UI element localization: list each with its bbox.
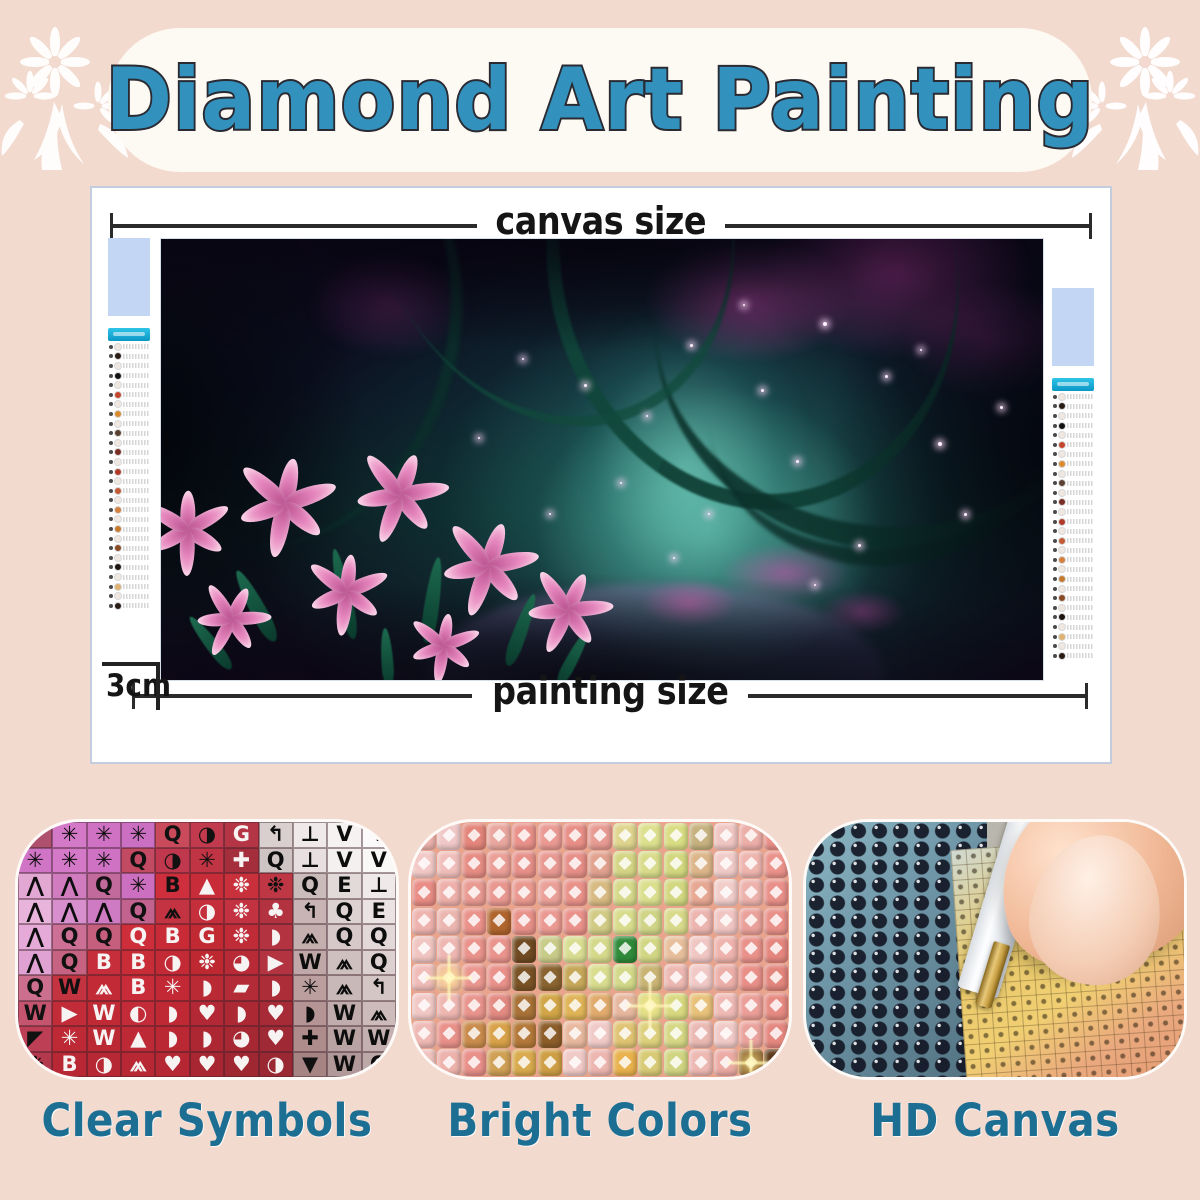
drill-legend-code [123,383,149,388]
drill-legend-dot [109,565,113,569]
drill-legend-dot [1053,395,1057,399]
drill-legend-code [1067,394,1093,399]
drill-legend-bead [1058,460,1066,468]
canvas-showcase: canvas size 3cm painting size [90,186,1112,764]
drill-cell [664,879,688,906]
drill-legend-row [108,496,150,506]
drill-legend-row [1052,574,1094,584]
symbol-cell: ◤ [18,822,52,848]
drill-legend-row [1052,392,1094,402]
symbol-cell: ✳ [121,873,155,899]
drill-legend-bead [114,583,122,591]
drill-legend-bead [1058,575,1066,583]
symbol-cell: B [121,950,155,976]
drill-legend-dot [109,364,113,368]
drill-legend-row [108,409,150,419]
drill-legend-dot [109,402,113,406]
symbol-cell: Q [362,924,396,950]
symbol-cell: ◗ [224,1001,258,1027]
drill-legend-bead [114,400,122,408]
drill-legend-row [1052,469,1094,479]
drill-legend-dot [109,556,113,560]
symbol-cell: ♥ [190,1052,224,1078]
drill-cell [437,1021,461,1048]
symbol-cell: ◤ [18,1026,52,1052]
feature-card-clear-symbols[interactable]: ◤✳✳✳Q◑G↰⊥VI✳✳✳Q◑✳✚Q⊥VV⋀⋀Q✳B▲❉❉QE⊥⋀⋀⋀Q⩕◑❉… [18,822,396,1077]
drill-cell [512,1049,536,1076]
drill-legend-row [108,563,150,573]
drill-legend-bead [1058,594,1066,602]
symbol-cell: ⩕ [327,975,361,1001]
drill-legend-dot [1053,491,1057,495]
drill-legend-row [108,419,150,429]
drill-legend-code [123,546,149,551]
drill-legend-code [1067,452,1093,457]
drill-cell [764,879,788,906]
drill-legend-row [108,400,150,410]
drill-cell [487,936,511,963]
drill-cell [538,823,562,850]
drill-legend-bead [1058,508,1066,516]
drill-legend-bead [114,496,122,504]
symbol-cell: W [362,1026,396,1052]
symbol-cell: ▲ [190,873,224,899]
drill-legend-row [1052,498,1094,508]
symbol-cell: B [155,873,189,899]
drill-legend-row [1052,526,1094,536]
drill-cell [689,823,713,850]
symbol-cell: Q [362,1052,396,1078]
symbol-cell: ✳ [52,848,86,874]
drill-legend-dot [1053,404,1057,408]
drill-cell [487,1049,511,1076]
drill-legend-bead [1058,527,1066,535]
symbol-cell: ↰ [362,975,396,1001]
symbol-cell: ❉ [18,1052,52,1078]
symbol-cell: Q [121,899,155,925]
symbol-cell: Q [259,848,293,874]
drill-legend-row [108,380,150,390]
drill-legend-dot [109,422,113,426]
drill-legend-row [108,352,150,362]
symbol-cell: ♥ [190,1001,224,1027]
drill-legend-code [1067,538,1093,543]
drill-legend-code [1067,596,1093,601]
drill-legend-dot [109,460,113,464]
drill-legend-bead [114,439,122,447]
drill-legend-row [1052,440,1094,450]
drill-legend-dot [109,546,113,550]
symbol-cell: B [155,924,189,950]
drill-legend-code [123,517,149,522]
drill-legend-bead [114,592,122,600]
symbol-cell: ♥ [259,1001,293,1027]
drill-legend-bead [114,525,122,533]
drill-legend-bead [1058,556,1066,564]
symbol-cell: ◕ [224,950,258,976]
symbol-cell: ✳ [52,822,86,848]
drill-cell [664,908,688,935]
symbol-cell: ◑ [87,1052,121,1078]
symbol-cell: Q [52,950,86,976]
drill-legend-row [108,457,150,467]
drill-legend-bead [1058,565,1066,573]
drill-legend-dot [109,450,113,454]
drill-cell [487,993,511,1020]
drill-legend-row [1052,603,1094,613]
drill-legend-code [123,431,149,436]
drill-legend-code [123,411,149,416]
symbol-cell: ❉ [224,899,258,925]
drill-legend-code [1067,567,1093,572]
drill-legend-code [1067,625,1093,630]
symbol-cell: ⋀ [18,924,52,950]
symbol-cell: ◗ [293,1001,327,1027]
drill-cell [588,936,612,963]
symbol-cell: I [362,822,396,848]
drill-cell [638,879,662,906]
drill-cell [588,851,612,878]
symbol-cell: Q [155,822,189,848]
drill-legend-bead [1058,412,1066,420]
drill-cell [412,908,436,935]
painting-size-measure: painting size [132,674,1088,718]
drill-cell [689,936,713,963]
drill-legend-dot [1053,587,1057,591]
drill-legend-bead [114,372,122,380]
drill-cell [613,936,637,963]
drill-legend-dot [109,537,113,541]
drill-cell [664,936,688,963]
symbol-cell: ◕ [224,1026,258,1052]
drill-cell [512,993,536,1020]
drill-cell [664,851,688,878]
drill-cell [512,823,536,850]
drill-legend-code [123,459,149,464]
drill-cell [563,823,587,850]
drill-cell [739,993,763,1020]
drill-legend-bead [114,362,122,370]
drill-legend-code [1067,644,1093,649]
drill-legend-dot [1053,635,1057,639]
symbol-cell: ↰ [293,899,327,925]
drill-cell [638,936,662,963]
drill-legend-dot [1053,606,1057,610]
drill-legend-bead [1058,441,1066,449]
symbol-cell: ▰ [224,975,258,1001]
drill-cell [613,823,637,850]
feature-caption-bright-colors: Bright Colors [430,1094,770,1147]
symbol-cell: Q [327,899,361,925]
drill-legend-bead [114,410,122,418]
drill-cell [739,964,763,991]
drill-cell [739,823,763,850]
drill-legend-bead [114,458,122,466]
drill-cell [588,993,612,1020]
drill-legend-row [108,601,150,611]
drill-cell [638,908,662,935]
painting-rule-left [135,694,472,698]
drill-cell [563,851,587,878]
symbol-cell: ▶ [52,1001,86,1027]
drill-legend-dot [1053,577,1057,581]
drill-legend-row [1052,459,1094,469]
drill-cell [563,1021,587,1048]
drill-legend-row [108,582,150,592]
symbol-cell: ↰ [259,822,293,848]
drill-legend-bead [114,487,122,495]
symbol-cell: W [327,1001,361,1027]
drill-legend-dot [1053,548,1057,552]
drill-legend-bead [1058,498,1066,506]
painting-cap-right [1085,683,1088,709]
drill-legend-bead [1058,633,1066,641]
drill-legend-code [1067,529,1093,534]
drill-legend-code [123,565,149,570]
drill-cell [462,879,486,906]
drill-cell [638,823,662,850]
drill-cell [538,851,562,878]
drill-legend-row [1052,546,1094,556]
drill-legend-row [108,572,150,582]
drill-cell [563,1049,587,1076]
painting-rule-right [748,694,1085,698]
symbol-cell: ♥ [224,1052,258,1078]
drill-cell [739,851,763,878]
artwork-firefly [938,442,942,446]
drill-cell [638,993,662,1020]
drill-cell [512,1021,536,1048]
drill-cell [739,908,763,935]
drill-legend-code [123,344,149,349]
symbol-cell: ◐ [121,1001,155,1027]
symbol-cell: ♣ [259,899,293,925]
drill-legend-code [123,354,149,359]
drill-cell [588,1021,612,1048]
drill-legend-bead [114,381,122,389]
drill-legend-dot [109,412,113,416]
drill-legend-dot [109,441,113,445]
drill-legend-row [1052,641,1094,651]
drill-legend-row [1052,411,1094,421]
drill-cell [739,936,763,963]
symbol-cell: ⩕ [327,950,361,976]
drill-legend-row [108,390,150,400]
drill-legend-code [1067,404,1093,409]
drill-legend-bead [114,352,122,360]
drill-legend-bead [1058,585,1066,593]
drill-cell [689,964,713,991]
drill-legend-dot [109,527,113,531]
drill-legend-bead [1058,623,1066,631]
drill-cell [538,964,562,991]
drill-legend-dot [109,345,113,349]
artwork-firefly [549,513,551,515]
drill-legend-dot [1053,433,1057,437]
drill-legend-header-right [1052,378,1094,391]
drill-legend-code [123,488,149,493]
drill-legend-code [123,575,149,580]
symbol-cell: ◑ [190,822,224,848]
drill-legend-row [108,361,150,371]
drill-legend-bead [1058,402,1066,410]
drill-legend-row [1052,430,1094,440]
drill-cell [588,1049,612,1076]
symbol-cell: ⋀ [18,899,52,925]
drill-legend-dot [1053,414,1057,418]
symbol-cell: ⊥ [362,873,396,899]
symbol-cell: Q [52,924,86,950]
symbol-cell: W [327,1052,361,1078]
drill-cell [538,908,562,935]
drill-legend-bead [1058,613,1066,621]
feature-card-bright-colors[interactable] [411,822,789,1077]
drill-legend-bead [114,535,122,543]
drill-legend-row [108,524,150,534]
symbol-cell: Q [121,924,155,950]
drill-cell [689,879,713,906]
drill-legend-code [1067,442,1093,447]
drill-legend-row [108,553,150,563]
symbol-cell: W [52,975,86,1001]
drill-legend-bead [1058,422,1066,430]
feature-card-hd-canvas[interactable] [806,822,1184,1077]
drill-legend-code [123,450,149,455]
symbol-grid: ◤✳✳✳Q◑G↰⊥VI✳✳✳Q◑✳✚Q⊥VV⋀⋀Q✳B▲❉❉QE⊥⋀⋀⋀Q⩕◑❉… [18,822,396,1077]
drill-legend-row [108,543,150,553]
drill-legend-rows-right [1052,391,1094,662]
drill-legend-code [123,536,149,541]
drill-legend-bead [114,420,122,428]
symbol-cell: ⊥ [293,822,327,848]
drill-legend-row [1052,593,1094,603]
symbol-cell: ⩕ [87,975,121,1001]
drill-cell [563,936,587,963]
drill-legend-bead [114,563,122,571]
drill-legend-code [123,421,149,426]
drill-cell [437,879,461,906]
drill-legend-row [108,476,150,486]
drill-legend-dot [1053,654,1057,658]
symbol-cell: B [121,975,155,1001]
drill-legend-dot [109,479,113,483]
drill-cell [538,1021,562,1048]
symbol-cell: Q [121,848,155,874]
symbol-cell: ❉ [259,873,293,899]
drill-legend-bead [114,544,122,552]
drill-cell [538,879,562,906]
drill-legend-row [1052,622,1094,632]
drill-legend-dot [109,498,113,502]
drill-cell [538,936,562,963]
symbol-cell: ▲ [121,1026,155,1052]
artwork-image [160,238,1044,681]
drill-cell [462,823,486,850]
drill-legend-bead [1058,450,1066,458]
symbol-cell: Q [293,873,327,899]
drill-legend-row [1052,421,1094,431]
drill-legend-row [108,505,150,515]
drill-legend-bead [1058,518,1066,526]
symbol-cell: ✚ [224,848,258,874]
symbol-cell: Q [18,975,52,1001]
drill-cell [412,851,436,878]
drill-legend-row [1052,565,1094,575]
drill-legend-bead [1058,431,1066,439]
hd-canvas-photo [806,822,1184,1077]
drill-cell [487,823,511,850]
margin-measure-tick [156,662,160,710]
drill-cell [689,1049,713,1076]
drill-legend-code [1067,461,1093,466]
symbol-cell: ⋀ [52,873,86,899]
canvas-size-label: canvas size [492,199,710,243]
drill-legend-row [108,448,150,458]
drill-legend-row [108,591,150,601]
drill-legend-bead [1058,642,1066,650]
drill-legend-row [1052,632,1094,642]
drill-legend-code [1067,615,1093,620]
drill-cell [563,964,587,991]
drill-legend-dot [1053,462,1057,466]
drill-legend-row [1052,613,1094,623]
drill-legend-code [1067,433,1093,438]
drill-cell [764,823,788,850]
drill-cell [512,851,536,878]
drill-legend-bead [1058,489,1066,497]
drill-cell [714,879,738,906]
drill-legend-header-left [108,328,150,341]
drill-legend-dot [1053,644,1057,648]
drill-cell [412,1021,436,1048]
drill-legend-bead [1058,479,1066,487]
symbol-cell: Q [327,924,361,950]
drill-legend-code [123,527,149,532]
drill-legend-code [123,479,149,484]
artwork-firefly [814,584,816,586]
drill-legend-dot [1053,596,1057,600]
drill-legend-dot [109,489,113,493]
drill-legend-dot [1053,424,1057,428]
drill-cell [613,879,637,906]
drill-legend-code [123,402,149,407]
symbol-cell: ❉ [224,873,258,899]
title-banner: Diamond Art Painting [108,28,1092,172]
symbol-cell: ✳ [155,975,189,1001]
drill-legend-code [1067,413,1093,418]
drill-cell [588,879,612,906]
symbol-cell: ✳ [121,822,155,848]
page-title: Diamond Art Painting [142,28,1057,172]
symbol-cell: V [327,822,361,848]
drill-legend-bead [1058,652,1066,660]
artwork-firefly [761,389,764,392]
symbol-cell: ⩕ [362,1001,396,1027]
symbol-cell: ⋀ [18,873,52,899]
drill-legend-strip-left [108,238,150,612]
drill-legend-code [1067,634,1093,639]
drill-cell [764,908,788,935]
symbol-cell: B [52,1052,86,1078]
drill-legend-bead [1058,546,1066,554]
drill-legend-code [1067,548,1093,553]
measure-rule-right [725,224,1089,228]
drill-cell [462,851,486,878]
drill-cell [714,851,738,878]
symbol-cell: ✳ [18,848,52,874]
drill-cell [664,1049,688,1076]
symbol-cell: ✳ [87,822,121,848]
